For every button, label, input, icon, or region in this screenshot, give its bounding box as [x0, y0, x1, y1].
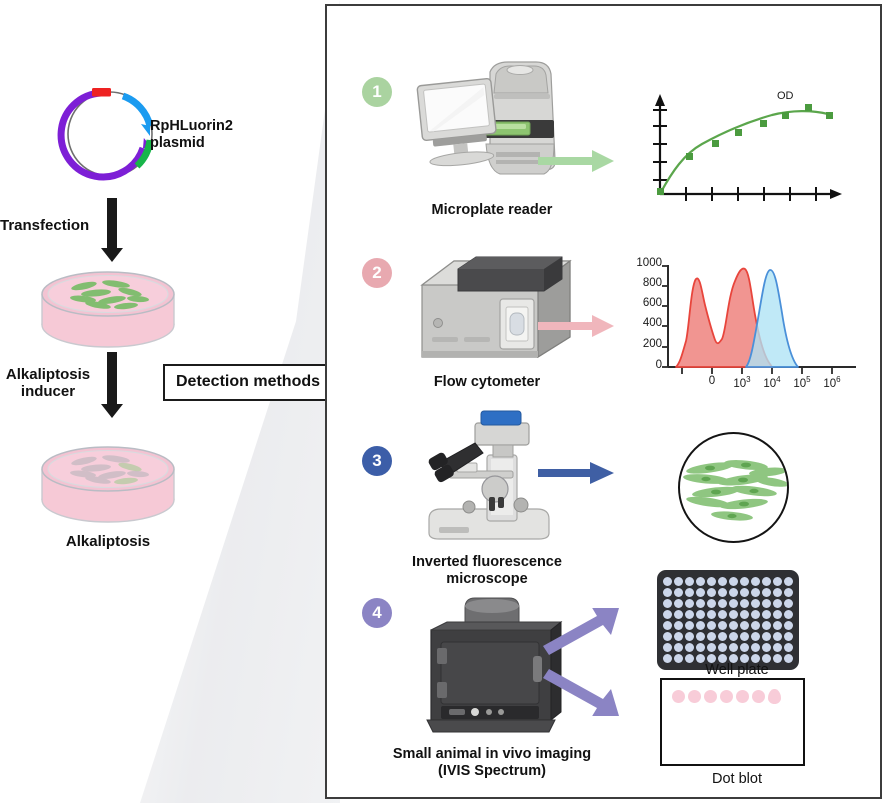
- blot-dot: [736, 690, 749, 703]
- well: [718, 632, 727, 641]
- flow-cytometer-caption: Flow cytometer: [377, 374, 597, 391]
- facs-ytick-200: 200: [618, 338, 662, 350]
- well: [751, 643, 760, 652]
- well: [718, 643, 727, 652]
- well: [751, 599, 760, 608]
- well: [762, 632, 771, 641]
- facs-ytick-600: 600: [618, 297, 662, 309]
- well: [762, 643, 771, 652]
- well: [718, 599, 727, 608]
- well: [707, 621, 716, 630]
- well: [685, 621, 694, 630]
- well: [740, 632, 749, 641]
- well: [729, 643, 738, 652]
- left-workflow-column: RpHLuorin2 plasmid Transfection: [0, 0, 325, 803]
- facs-xtick-10e4: 104: [758, 375, 786, 390]
- flow-cytometer-icon: [402, 251, 577, 371]
- well: [685, 643, 694, 652]
- plasmid-label-line1: RpHLuorin2: [150, 118, 270, 135]
- well: [762, 577, 771, 586]
- plasmid-label: RpHLuorin2 plasmid: [150, 118, 270, 152]
- well: [773, 610, 782, 619]
- well: [762, 610, 771, 619]
- alkaliptosis-inducer-label: Alkaliptosis inducer: [0, 366, 96, 401]
- well: [729, 610, 738, 619]
- facs-ytick-0: 0: [618, 359, 662, 371]
- detection-methods-box: Detection methods: [163, 364, 333, 401]
- facs-ytick-800: 800: [618, 277, 662, 289]
- facs-xtick-10e6: 106: [818, 375, 846, 390]
- well: [663, 621, 672, 630]
- well: [707, 610, 716, 619]
- well: [685, 577, 694, 586]
- well: [674, 588, 683, 597]
- step-badge-3: 3: [362, 446, 392, 476]
- well: [784, 610, 793, 619]
- plasmid-diagram: [55, 78, 165, 190]
- well: [773, 632, 782, 641]
- well: [696, 632, 705, 641]
- dot-blot-graphic: [660, 678, 805, 766]
- well: [740, 577, 749, 586]
- transfection-label: Transfection: [0, 217, 96, 234]
- well: [729, 588, 738, 597]
- well: [773, 588, 782, 597]
- well: [729, 621, 738, 630]
- alkaliptosis-inducer-arrow: [101, 352, 123, 418]
- well: [696, 599, 705, 608]
- well: [696, 588, 705, 597]
- figure-canvas: RpHLuorin2 plasmid Transfection: [0, 0, 886, 803]
- plasmid-label-line2: plasmid: [150, 135, 270, 152]
- ivis-caption-line2: (IVIS Spectrum): [367, 763, 617, 780]
- od-series-label: OD: [777, 90, 794, 102]
- facs-ytick-1000: 1000: [618, 257, 662, 269]
- well: [674, 577, 683, 586]
- blot-dot: [688, 690, 701, 703]
- well: [773, 643, 782, 652]
- facs-xtick-10e5: 105: [788, 375, 816, 390]
- well: [663, 632, 672, 641]
- well: [740, 599, 749, 608]
- well: [696, 643, 705, 652]
- well: [784, 643, 793, 652]
- blot-dot: [752, 690, 765, 703]
- well: [762, 599, 771, 608]
- well: [729, 632, 738, 641]
- well: [784, 621, 793, 630]
- well: [751, 577, 760, 586]
- alkaliptosis-inducer-line2: inducer: [0, 383, 96, 400]
- well-plate-caption: Well plate: [637, 662, 837, 678]
- well: [784, 632, 793, 641]
- transfection-arrow: [101, 198, 123, 262]
- well: [718, 621, 727, 630]
- ivis-caption-line1: Small animal in vivo imaging: [367, 746, 617, 763]
- blot-dot: [672, 690, 685, 703]
- well: [762, 621, 771, 630]
- facs-xtick-10e3: 103: [728, 375, 756, 390]
- facs-ytick-400: 400: [618, 317, 662, 329]
- arrow-to-flow-histogram: [538, 314, 616, 343]
- well: [773, 577, 782, 586]
- microplate-reader-caption: Microplate reader: [377, 202, 607, 219]
- well: [707, 632, 716, 641]
- od-growth-curve-chart: OD: [642, 88, 852, 213]
- well: [663, 599, 672, 608]
- petri-dish-alkaliptosis: [38, 443, 178, 530]
- step-badge-2: 2: [362, 258, 392, 288]
- well: [751, 621, 760, 630]
- well: [685, 632, 694, 641]
- well-plate-graphic: [657, 570, 799, 670]
- fluorescence-micrograph: [678, 432, 789, 543]
- arrow-to-micrograph: [538, 461, 616, 490]
- step-badge-4: 4: [362, 598, 392, 628]
- well: [729, 577, 738, 586]
- facs-xtick-0: 0: [698, 375, 726, 387]
- petri-dish-transfected: [38, 268, 178, 355]
- blot-dot-teardrop: [768, 689, 781, 704]
- arrow-to-od-chart: [538, 149, 616, 178]
- well: [674, 610, 683, 619]
- blot-dot: [704, 690, 717, 703]
- well: [729, 599, 738, 608]
- well: [707, 577, 716, 586]
- well: [762, 588, 771, 597]
- well: [674, 643, 683, 652]
- detection-methods-panel: 1: [325, 4, 882, 799]
- well: [696, 577, 705, 586]
- well: [707, 599, 716, 608]
- arrow-to-well-plate: [539, 608, 624, 661]
- well: [718, 610, 727, 619]
- ivis-caption: Small animal in vivo imaging (IVIS Spect…: [367, 746, 617, 780]
- well: [740, 610, 749, 619]
- well: [740, 588, 749, 597]
- inverted-microscope-caption-line1: Inverted fluorescence: [372, 554, 602, 571]
- well: [773, 599, 782, 608]
- blot-dot: [720, 690, 733, 703]
- well: [707, 588, 716, 597]
- well: [740, 643, 749, 652]
- well: [707, 643, 716, 652]
- inverted-microscope-caption: Inverted fluorescence microscope: [372, 554, 602, 588]
- well: [784, 588, 793, 597]
- well: [685, 588, 694, 597]
- well: [674, 632, 683, 641]
- well: [718, 588, 727, 597]
- well: [685, 610, 694, 619]
- well: [773, 621, 782, 630]
- well: [663, 610, 672, 619]
- well: [784, 577, 793, 586]
- arrow-to-dot-blot: [539, 668, 624, 721]
- well: [718, 577, 727, 586]
- well: [674, 621, 683, 630]
- well: [751, 588, 760, 597]
- alkaliptosis-dish-caption: Alkaliptosis: [18, 533, 198, 550]
- step-badge-1: 1: [362, 77, 392, 107]
- well: [663, 577, 672, 586]
- well: [751, 610, 760, 619]
- well: [740, 621, 749, 630]
- flow-cytometry-histogram-chart: 1000 800 600 400 200 0 0 103 104 105 106: [620, 251, 870, 396]
- well: [663, 588, 672, 597]
- well: [696, 621, 705, 630]
- well: [696, 610, 705, 619]
- well: [751, 632, 760, 641]
- well: [663, 643, 672, 652]
- dot-blot-caption: Dot blot: [637, 771, 837, 787]
- well: [674, 599, 683, 608]
- well: [784, 599, 793, 608]
- well: [685, 599, 694, 608]
- alkaliptosis-inducer-line1: Alkaliptosis: [0, 366, 96, 383]
